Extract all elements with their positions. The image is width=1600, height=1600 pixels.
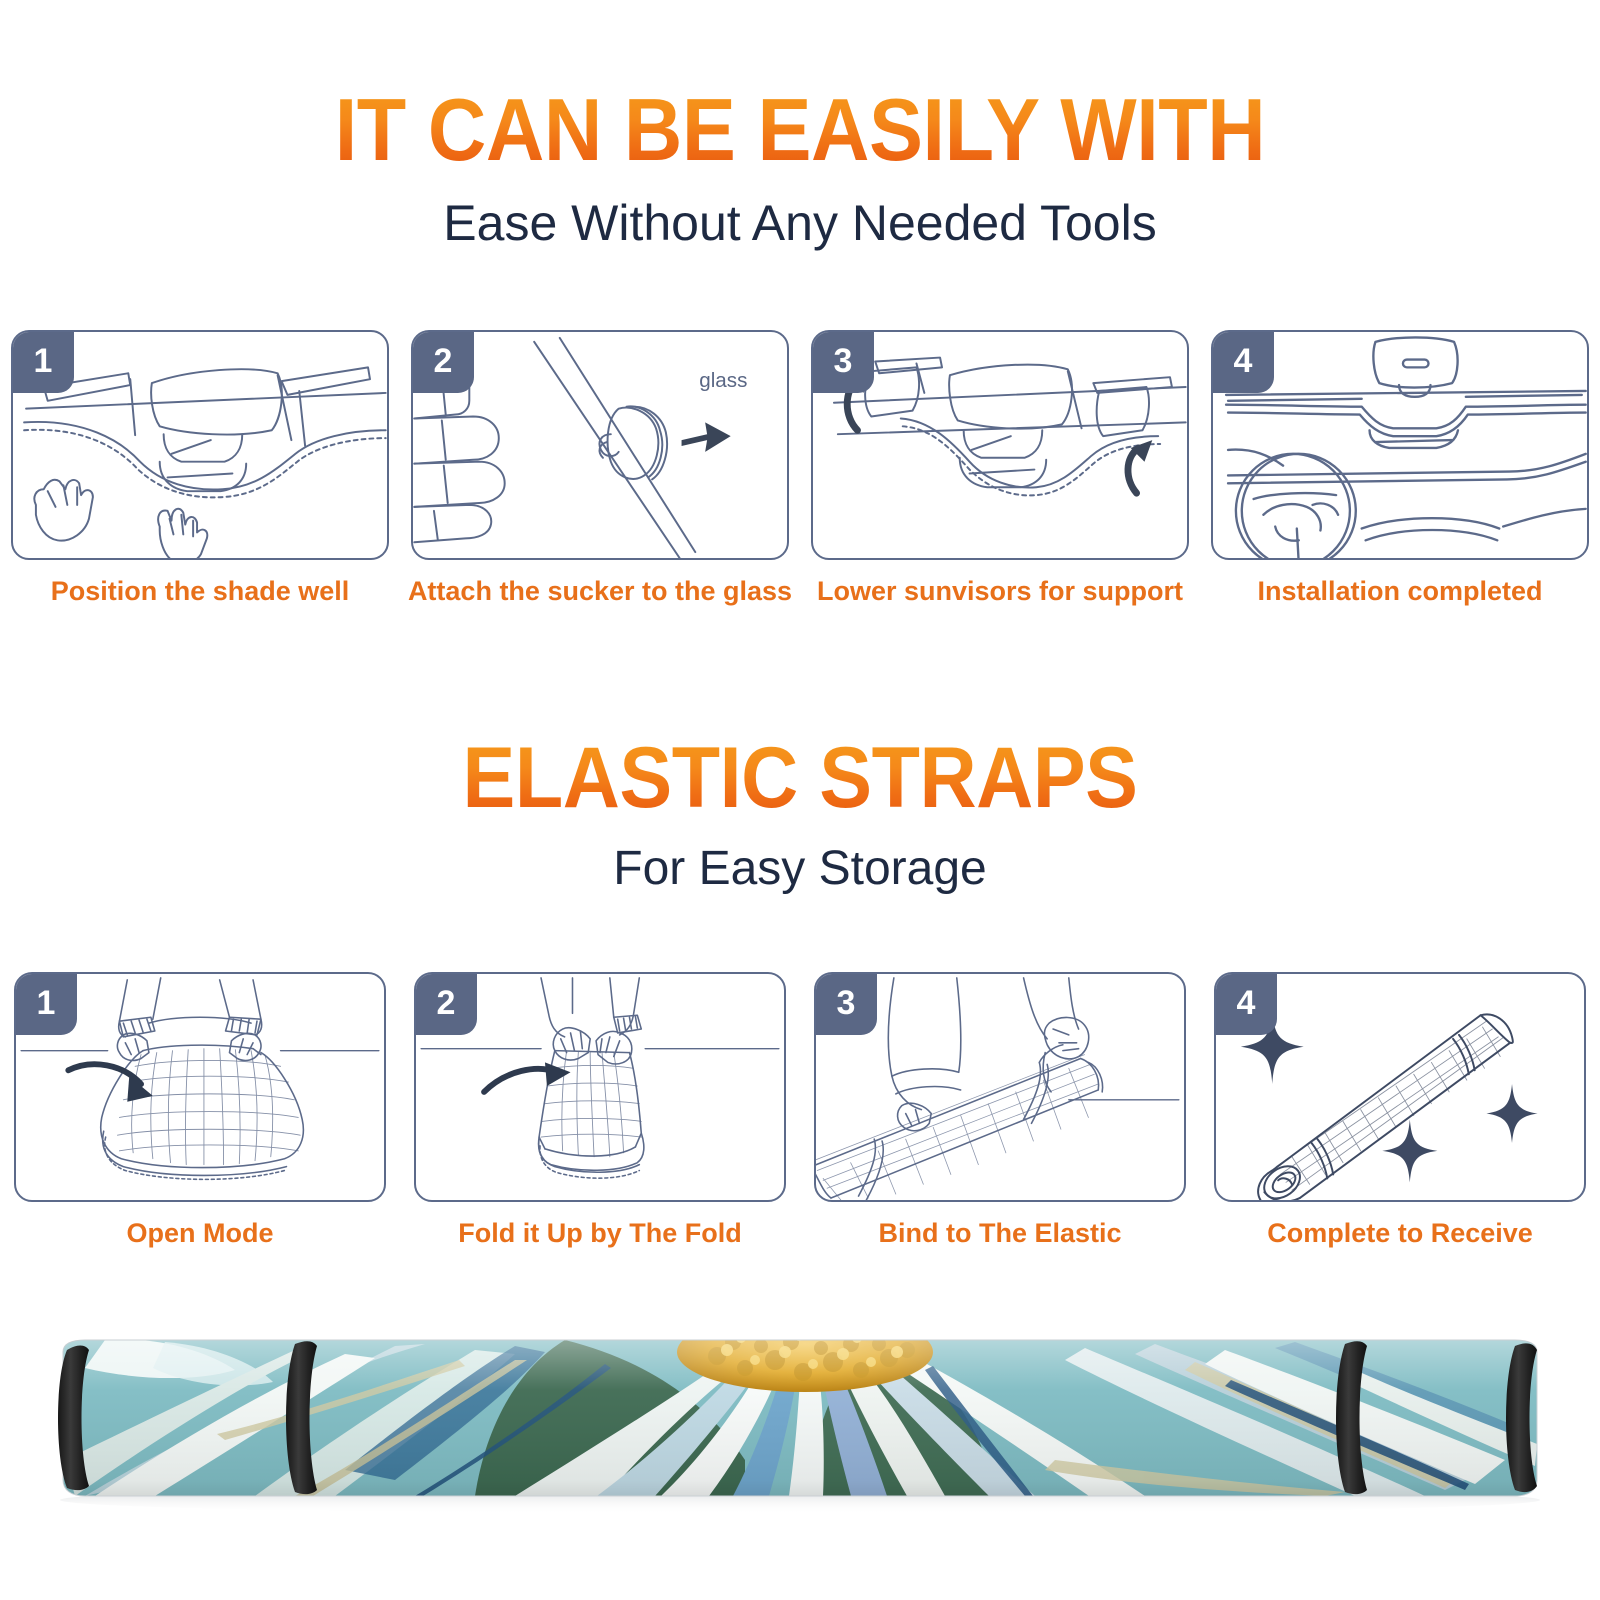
page-title: IT CAN BE EASILY WITH	[64, 86, 1536, 174]
step-cell-storage-1: 1	[0, 972, 400, 1250]
rotation-arrow-right-icon	[1128, 448, 1139, 493]
step-number-badge: 4	[1215, 973, 1277, 1035]
step-panel-install-2[interactable]: 2	[411, 330, 789, 560]
step-number-badge: 2	[412, 331, 474, 393]
step-caption: Installation completed	[1200, 576, 1600, 608]
step-caption: Bind to The Elastic	[800, 1218, 1200, 1250]
step-cell-install-1: 1	[0, 330, 400, 608]
step-panel-install-3[interactable]: 3	[811, 330, 1189, 560]
sparkle-icon	[1382, 1119, 1437, 1182]
step-cell-install-3: 3	[800, 330, 1200, 608]
step-panel-install-4[interactable]: 4	[1211, 330, 1589, 560]
step-number-badge: 4	[1212, 331, 1274, 393]
sparkle-icon	[1486, 1084, 1537, 1143]
step-cell-storage-3: 3	[800, 972, 1200, 1250]
step-panel-storage-2[interactable]: 2	[414, 972, 786, 1202]
step-caption: Open Mode	[0, 1218, 400, 1250]
page-subtitle: Ease Without Any Needed Tools	[0, 196, 1600, 251]
rotation-arrow-right-head-icon	[1131, 440, 1153, 462]
fold-direction-arrow-head-icon	[545, 1062, 571, 1086]
step-cell-storage-2: 2	[400, 972, 800, 1250]
step-number-badge: 3	[812, 331, 874, 393]
storage-heading-block: ELASTIC STRAPS For Easy Storage	[0, 735, 1600, 896]
step-cell-storage-4: 4	[1200, 972, 1600, 1250]
step-cell-install-4: 4	[1200, 330, 1600, 608]
step-panel-storage-4[interactable]: 4	[1214, 972, 1586, 1202]
step-number-badge: 1	[15, 973, 77, 1035]
product-illustration	[45, 1320, 1555, 1520]
step-caption: Position the shade well	[0, 576, 400, 608]
installation-steps-row: 1	[0, 330, 1600, 608]
section-title: ELASTIC STRAPS	[64, 735, 1536, 821]
step-panel-install-1[interactable]: 1	[11, 330, 389, 560]
step-number-badge: 2	[415, 973, 477, 1035]
section-subtitle: For Easy Storage	[0, 843, 1600, 896]
rolled-sunshade-product-photo	[45, 1320, 1555, 1520]
step-caption: Complete to Receive	[1200, 1218, 1600, 1250]
step-number-badge: 3	[815, 973, 877, 1035]
step-panel-storage-1[interactable]: 1	[14, 972, 386, 1202]
step-panel-storage-3[interactable]: 3	[814, 972, 1186, 1202]
step-number-badge: 1	[12, 331, 74, 393]
glass-annotation-label: glass	[699, 369, 747, 392]
direction-arrow-icon	[682, 422, 731, 451]
step-cell-install-2: 2	[400, 330, 800, 608]
step-caption: Lower sunvisors for support	[800, 576, 1200, 608]
step-caption: Attach the sucker to the glass	[400, 576, 800, 608]
installation-heading-block: IT CAN BE EASILY WITH Ease Without Any N…	[0, 86, 1600, 251]
storage-steps-row: 1	[0, 972, 1600, 1250]
step-caption: Fold it Up by The Fold	[400, 1218, 800, 1250]
